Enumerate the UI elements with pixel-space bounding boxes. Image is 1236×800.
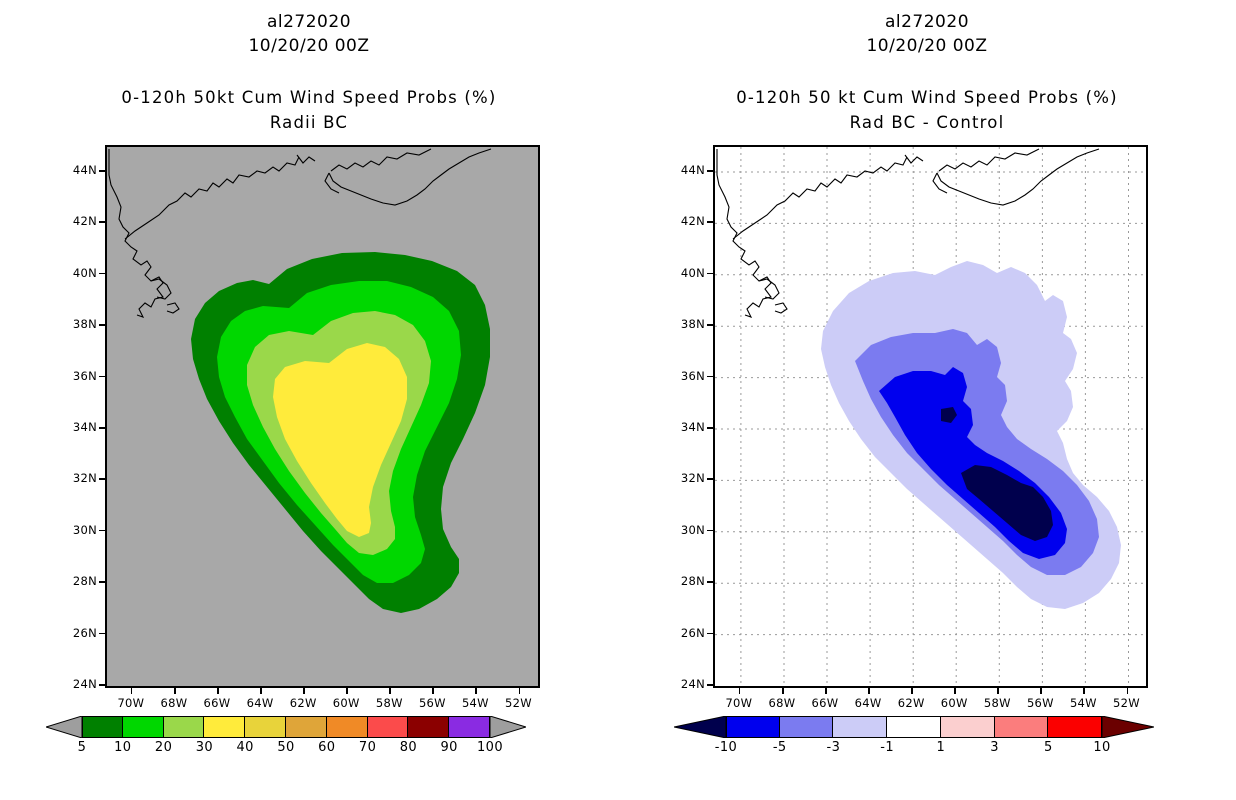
y-axis-label: 44N bbox=[665, 163, 705, 177]
x-axis-label: 66W bbox=[204, 696, 231, 710]
panel-right-storm-id: al272020 bbox=[618, 12, 1236, 32]
panel-left-storm-id: al272020 bbox=[0, 12, 618, 32]
colorbar-tick-label: -10 bbox=[715, 740, 737, 755]
colorbar-cell[interactable] bbox=[408, 716, 449, 738]
colorbar-low-cap-icon bbox=[674, 716, 726, 738]
colorbar-cell[interactable] bbox=[286, 716, 327, 738]
colorbar-tick-label: 30 bbox=[196, 740, 213, 755]
x-tick bbox=[1083, 688, 1085, 694]
x-axis-label: 70W bbox=[117, 696, 144, 710]
y-axis-label: 42N bbox=[57, 214, 97, 228]
y-tick bbox=[707, 478, 713, 480]
y-axis-label: 40N bbox=[665, 266, 705, 280]
colorbar-tick-label: -1 bbox=[880, 740, 894, 755]
panel-right-datetime: 10/20/20 00Z bbox=[618, 36, 1236, 56]
y-axis-label: 36N bbox=[57, 369, 97, 383]
panel-right-subtitle: Rad BC - Control bbox=[618, 113, 1236, 132]
y-tick bbox=[99, 581, 105, 583]
panel-left-subtitle: Radii BC bbox=[0, 113, 618, 132]
y-axis-label: 28N bbox=[665, 574, 705, 588]
y-axis-label: 34N bbox=[665, 420, 705, 434]
y-tick bbox=[99, 170, 105, 172]
x-tick bbox=[260, 688, 262, 694]
colorbar-right-labels: -10-5-3-113510 bbox=[726, 740, 1102, 758]
colorbar-cell[interactable] bbox=[887, 716, 941, 738]
colorbar-tick-label: 20 bbox=[155, 740, 172, 755]
colorbar-high-cap-icon bbox=[1102, 716, 1154, 738]
x-axis-label: 70W bbox=[725, 696, 752, 710]
colorbar-cell[interactable] bbox=[164, 716, 205, 738]
x-tick bbox=[217, 688, 219, 694]
y-tick bbox=[707, 581, 713, 583]
y-axis-label: 42N bbox=[665, 214, 705, 228]
colorbar-tick-label: 80 bbox=[400, 740, 417, 755]
x-axis-label: 60W bbox=[941, 696, 968, 710]
x-tick bbox=[475, 688, 477, 694]
y-tick bbox=[707, 530, 713, 532]
y-tick bbox=[99, 633, 105, 635]
y-axis-label: 40N bbox=[57, 266, 97, 280]
x-tick bbox=[346, 688, 348, 694]
colorbar-cell[interactable] bbox=[941, 716, 995, 738]
y-axis-label: 24N bbox=[57, 677, 97, 691]
plot-area-left: 24N 26N 28N 30N 32N 34N 36N 38N 40N 42N … bbox=[105, 145, 540, 688]
x-axis-label: 52W bbox=[505, 696, 532, 710]
colorbar-cell[interactable] bbox=[82, 716, 123, 738]
colorbar-cell[interactable] bbox=[327, 716, 368, 738]
x-axis-label: 68W bbox=[769, 696, 796, 710]
y-axis-label: 44N bbox=[57, 163, 97, 177]
colorbar-cell[interactable] bbox=[726, 716, 780, 738]
colorbar-cell[interactable] bbox=[833, 716, 887, 738]
x-tick bbox=[303, 688, 305, 694]
colorbar-cell[interactable] bbox=[995, 716, 1049, 738]
y-tick bbox=[99, 221, 105, 223]
y-tick bbox=[707, 170, 713, 172]
y-tick bbox=[99, 324, 105, 326]
map-canvas-right bbox=[713, 145, 1148, 688]
x-axis-label: 58W bbox=[376, 696, 403, 710]
y-tick bbox=[99, 478, 105, 480]
colorbar-tick-label: 100 bbox=[477, 740, 503, 755]
x-tick bbox=[1040, 688, 1042, 694]
colorbar-cell[interactable] bbox=[123, 716, 164, 738]
colorbar-tick-label: 3 bbox=[990, 740, 999, 755]
x-tick bbox=[825, 688, 827, 694]
x-tick bbox=[782, 688, 784, 694]
y-axis-label: 34N bbox=[57, 420, 97, 434]
colorbar-tick-label: 1 bbox=[937, 740, 946, 755]
x-tick bbox=[868, 688, 870, 694]
y-tick bbox=[707, 324, 713, 326]
colorbar-tick-label: 40 bbox=[237, 740, 254, 755]
y-axis-label: 38N bbox=[665, 317, 705, 331]
panel-left-datetime: 10/20/20 00Z bbox=[0, 36, 618, 56]
colorbar-right-strip bbox=[726, 716, 1102, 738]
colorbar-left-labels: 5102030405060708090100 bbox=[82, 740, 490, 758]
x-axis-label: 54W bbox=[1070, 696, 1097, 710]
map-canvas-left bbox=[105, 145, 540, 688]
colorbar-tick-label: 10 bbox=[114, 740, 131, 755]
x-tick bbox=[911, 688, 913, 694]
x-axis-label: 64W bbox=[855, 696, 882, 710]
y-axis-label: 32N bbox=[665, 471, 705, 485]
panel-right: al272020 10/20/20 00Z 0-120h 50 kt Cum W… bbox=[618, 0, 1236, 800]
x-tick bbox=[432, 688, 434, 694]
x-axis-label: 58W bbox=[984, 696, 1011, 710]
y-axis-label: 24N bbox=[665, 677, 705, 691]
y-axis-label: 30N bbox=[665, 523, 705, 537]
x-tick bbox=[131, 688, 133, 694]
x-tick bbox=[997, 688, 999, 694]
colorbar-left[interactable]: 5102030405060708090100 bbox=[46, 716, 526, 760]
x-axis-label: 66W bbox=[812, 696, 839, 710]
x-axis-label: 52W bbox=[1113, 696, 1140, 710]
x-tick bbox=[954, 688, 956, 694]
y-axis-label: 36N bbox=[665, 369, 705, 383]
x-axis-label: 54W bbox=[462, 696, 489, 710]
panel-right-title: 0-120h 50 kt Cum Wind Speed Probs (%) bbox=[618, 88, 1236, 107]
colorbar-tick-label: 60 bbox=[318, 740, 335, 755]
y-axis-label: 32N bbox=[57, 471, 97, 485]
colorbar-left-strip bbox=[82, 716, 490, 738]
x-axis-label: 64W bbox=[247, 696, 274, 710]
panel-left-title: 0-120h 50kt Cum Wind Speed Probs (%) bbox=[0, 88, 618, 107]
y-tick bbox=[707, 633, 713, 635]
y-tick bbox=[707, 427, 713, 429]
contour-plot-right bbox=[715, 147, 1146, 686]
y-axis-label: 30N bbox=[57, 523, 97, 537]
colorbar-high-cap-icon bbox=[490, 716, 526, 738]
contour-plot-left bbox=[107, 147, 538, 686]
y-tick bbox=[707, 221, 713, 223]
x-tick bbox=[739, 688, 741, 694]
colorbar-tick-label: 5 bbox=[78, 740, 87, 755]
panel-left: al272020 10/20/20 00Z 0-120h 50kt Cum Wi… bbox=[0, 0, 618, 800]
x-axis-label: 60W bbox=[333, 696, 360, 710]
x-tick bbox=[519, 688, 521, 694]
y-tick bbox=[707, 273, 713, 275]
x-axis-label: 56W bbox=[419, 696, 446, 710]
colorbar-cell[interactable] bbox=[780, 716, 834, 738]
x-axis-label: 62W bbox=[290, 696, 317, 710]
x-axis-label: 62W bbox=[898, 696, 925, 710]
y-axis-label: 38N bbox=[57, 317, 97, 331]
colorbar-tick-label: -3 bbox=[827, 740, 841, 755]
colorbar-low-cap-icon bbox=[46, 716, 82, 738]
y-tick bbox=[707, 376, 713, 378]
y-tick bbox=[99, 427, 105, 429]
colorbar-right[interactable]: -10-5-3-113510 bbox=[674, 716, 1154, 760]
colorbar-tick-label: 90 bbox=[441, 740, 458, 755]
x-tick bbox=[1127, 688, 1129, 694]
colorbar-tick-label: 50 bbox=[277, 740, 294, 755]
colorbar-cell[interactable] bbox=[368, 716, 409, 738]
y-tick bbox=[99, 273, 105, 275]
y-axis-label: 26N bbox=[665, 626, 705, 640]
colorbar-tick-label: 10 bbox=[1093, 740, 1110, 755]
y-axis-label: 28N bbox=[57, 574, 97, 588]
y-tick bbox=[99, 530, 105, 532]
y-tick bbox=[99, 684, 105, 686]
plot-area-right: 24N 26N 28N 30N 32N 34N 36N 38N 40N 42N … bbox=[713, 145, 1148, 688]
colorbar-cell[interactable] bbox=[204, 716, 245, 738]
colorbar-tick-label: 5 bbox=[1044, 740, 1053, 755]
x-axis-label: 56W bbox=[1027, 696, 1054, 710]
colorbar-cell[interactable] bbox=[449, 716, 490, 738]
colorbar-cell[interactable] bbox=[1048, 716, 1102, 738]
colorbar-tick-label: -5 bbox=[773, 740, 787, 755]
y-tick bbox=[99, 376, 105, 378]
x-axis-label: 68W bbox=[161, 696, 188, 710]
y-axis-label: 26N bbox=[57, 626, 97, 640]
x-tick bbox=[174, 688, 176, 694]
colorbar-cell[interactable] bbox=[245, 716, 286, 738]
y-tick bbox=[707, 684, 713, 686]
x-tick bbox=[389, 688, 391, 694]
colorbar-tick-label: 70 bbox=[359, 740, 376, 755]
